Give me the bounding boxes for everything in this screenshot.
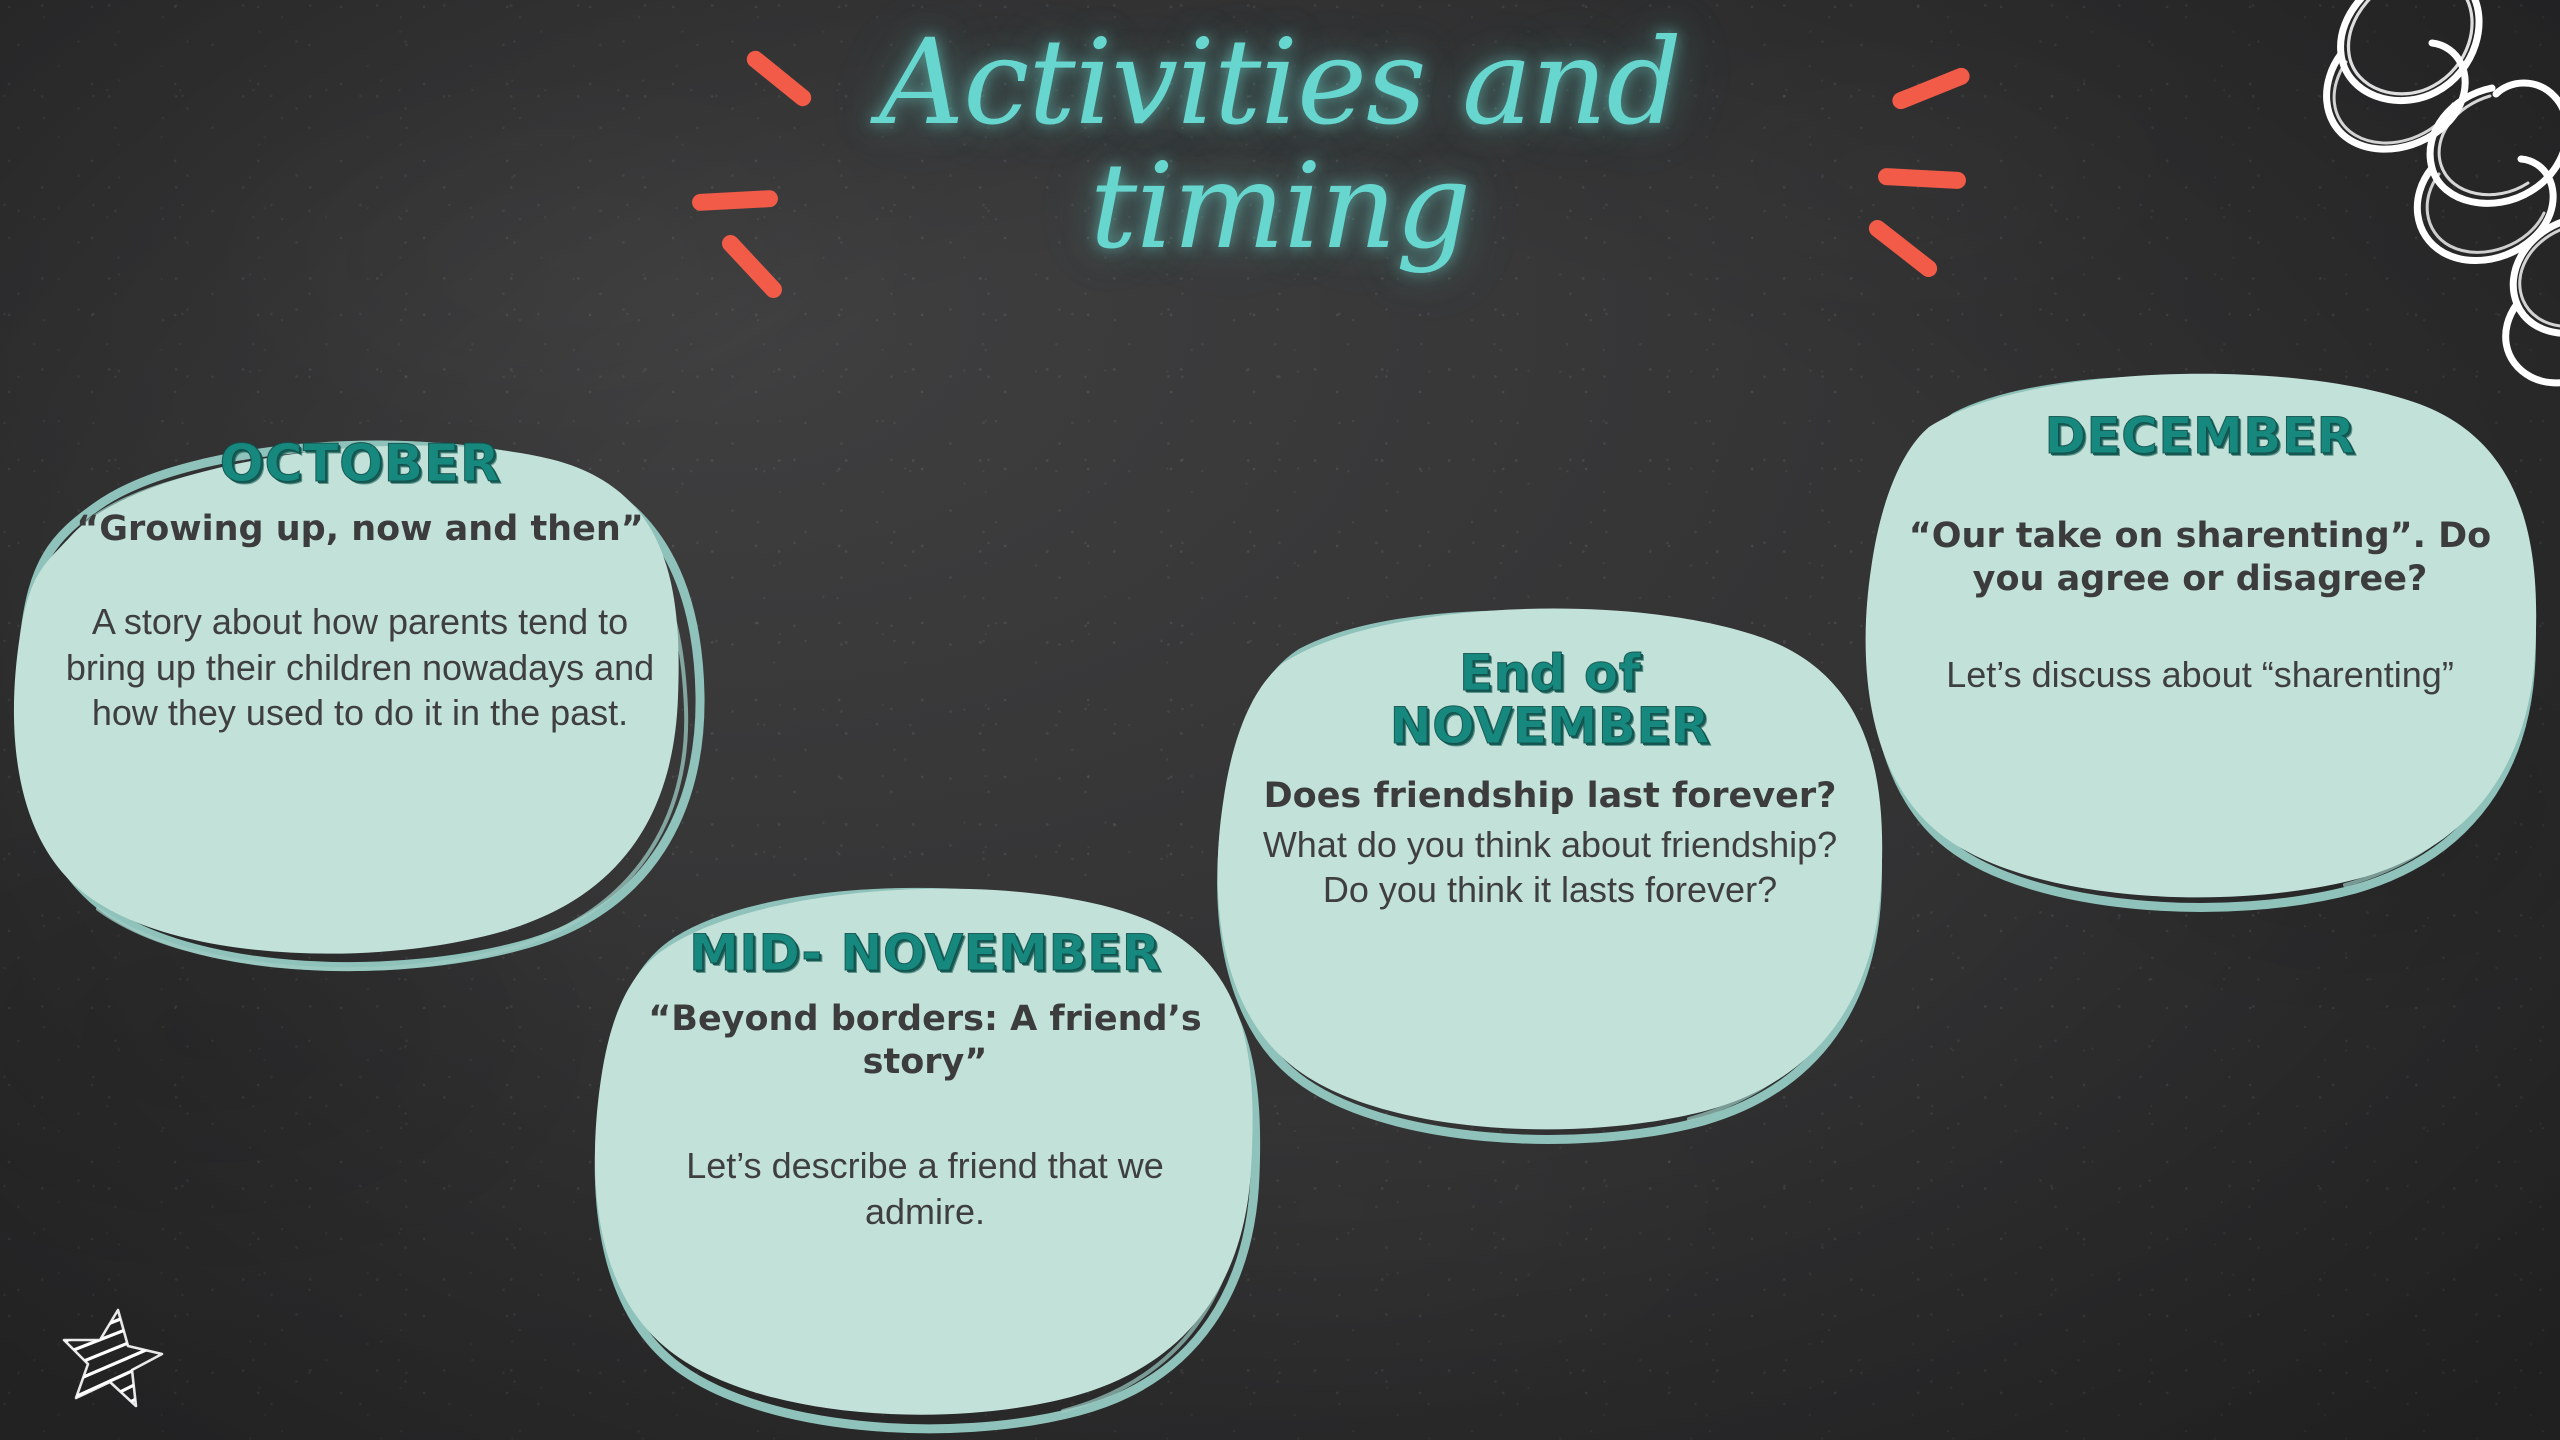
card-content: DECEMBER “Our take on sharenting”. Do yo… [1903,410,2497,698]
card-body: Let’s describe a friend that we admire. [629,1143,1221,1234]
title-line-2: timing [730,146,1830,266]
card-heading: OCTOBER [56,437,664,492]
card-body: A story about how parents tend to bring … [56,599,664,736]
card-content: MID- NOVEMBER “Beyond borders: A friend’… [629,927,1221,1235]
card-content: End of NOVEMBER Does friendship last for… [1257,647,1843,913]
card-subtitle: “Growing up, now and then” [56,508,664,551]
month-card-december[interactable]: DECEMBER “Our take on sharenting”. Do yo… [1855,355,2545,915]
month-card-end-of-november[interactable]: End of NOVEMBER Does friendship last for… [1205,585,1895,1145]
card-heading-line-2: NOVEMBER [1257,700,1843,753]
card-body: What do you think about friendship? Do y… [1257,822,1843,913]
card-body: Let’s discuss about “sharenting” [1903,652,2497,698]
card-subtitle: “Beyond borders: A friend’s story” [629,998,1221,1083]
slide-canvas: Activities and timing OCTOBER “Growing u… [0,0,2560,1440]
card-subtitle: “Our take on sharenting”. Do you agree o… [1903,515,2497,600]
card-content: OCTOBER “Growing up, now and then” A sto… [56,437,664,736]
card-heading: DECEMBER [1903,410,2497,463]
card-heading-line-1: End of [1257,647,1843,700]
card-heading: MID- NOVEMBER [629,927,1221,980]
card-subtitle: Does friendship last forever? [1257,775,1843,818]
star-icon [58,1302,168,1412]
page-title: Activities and timing [730,22,1830,267]
month-card-mid-november[interactable]: MID- NOVEMBER “Beyond borders: A friend’… [585,855,1265,1435]
title-line-1: Activities and [730,22,1830,142]
